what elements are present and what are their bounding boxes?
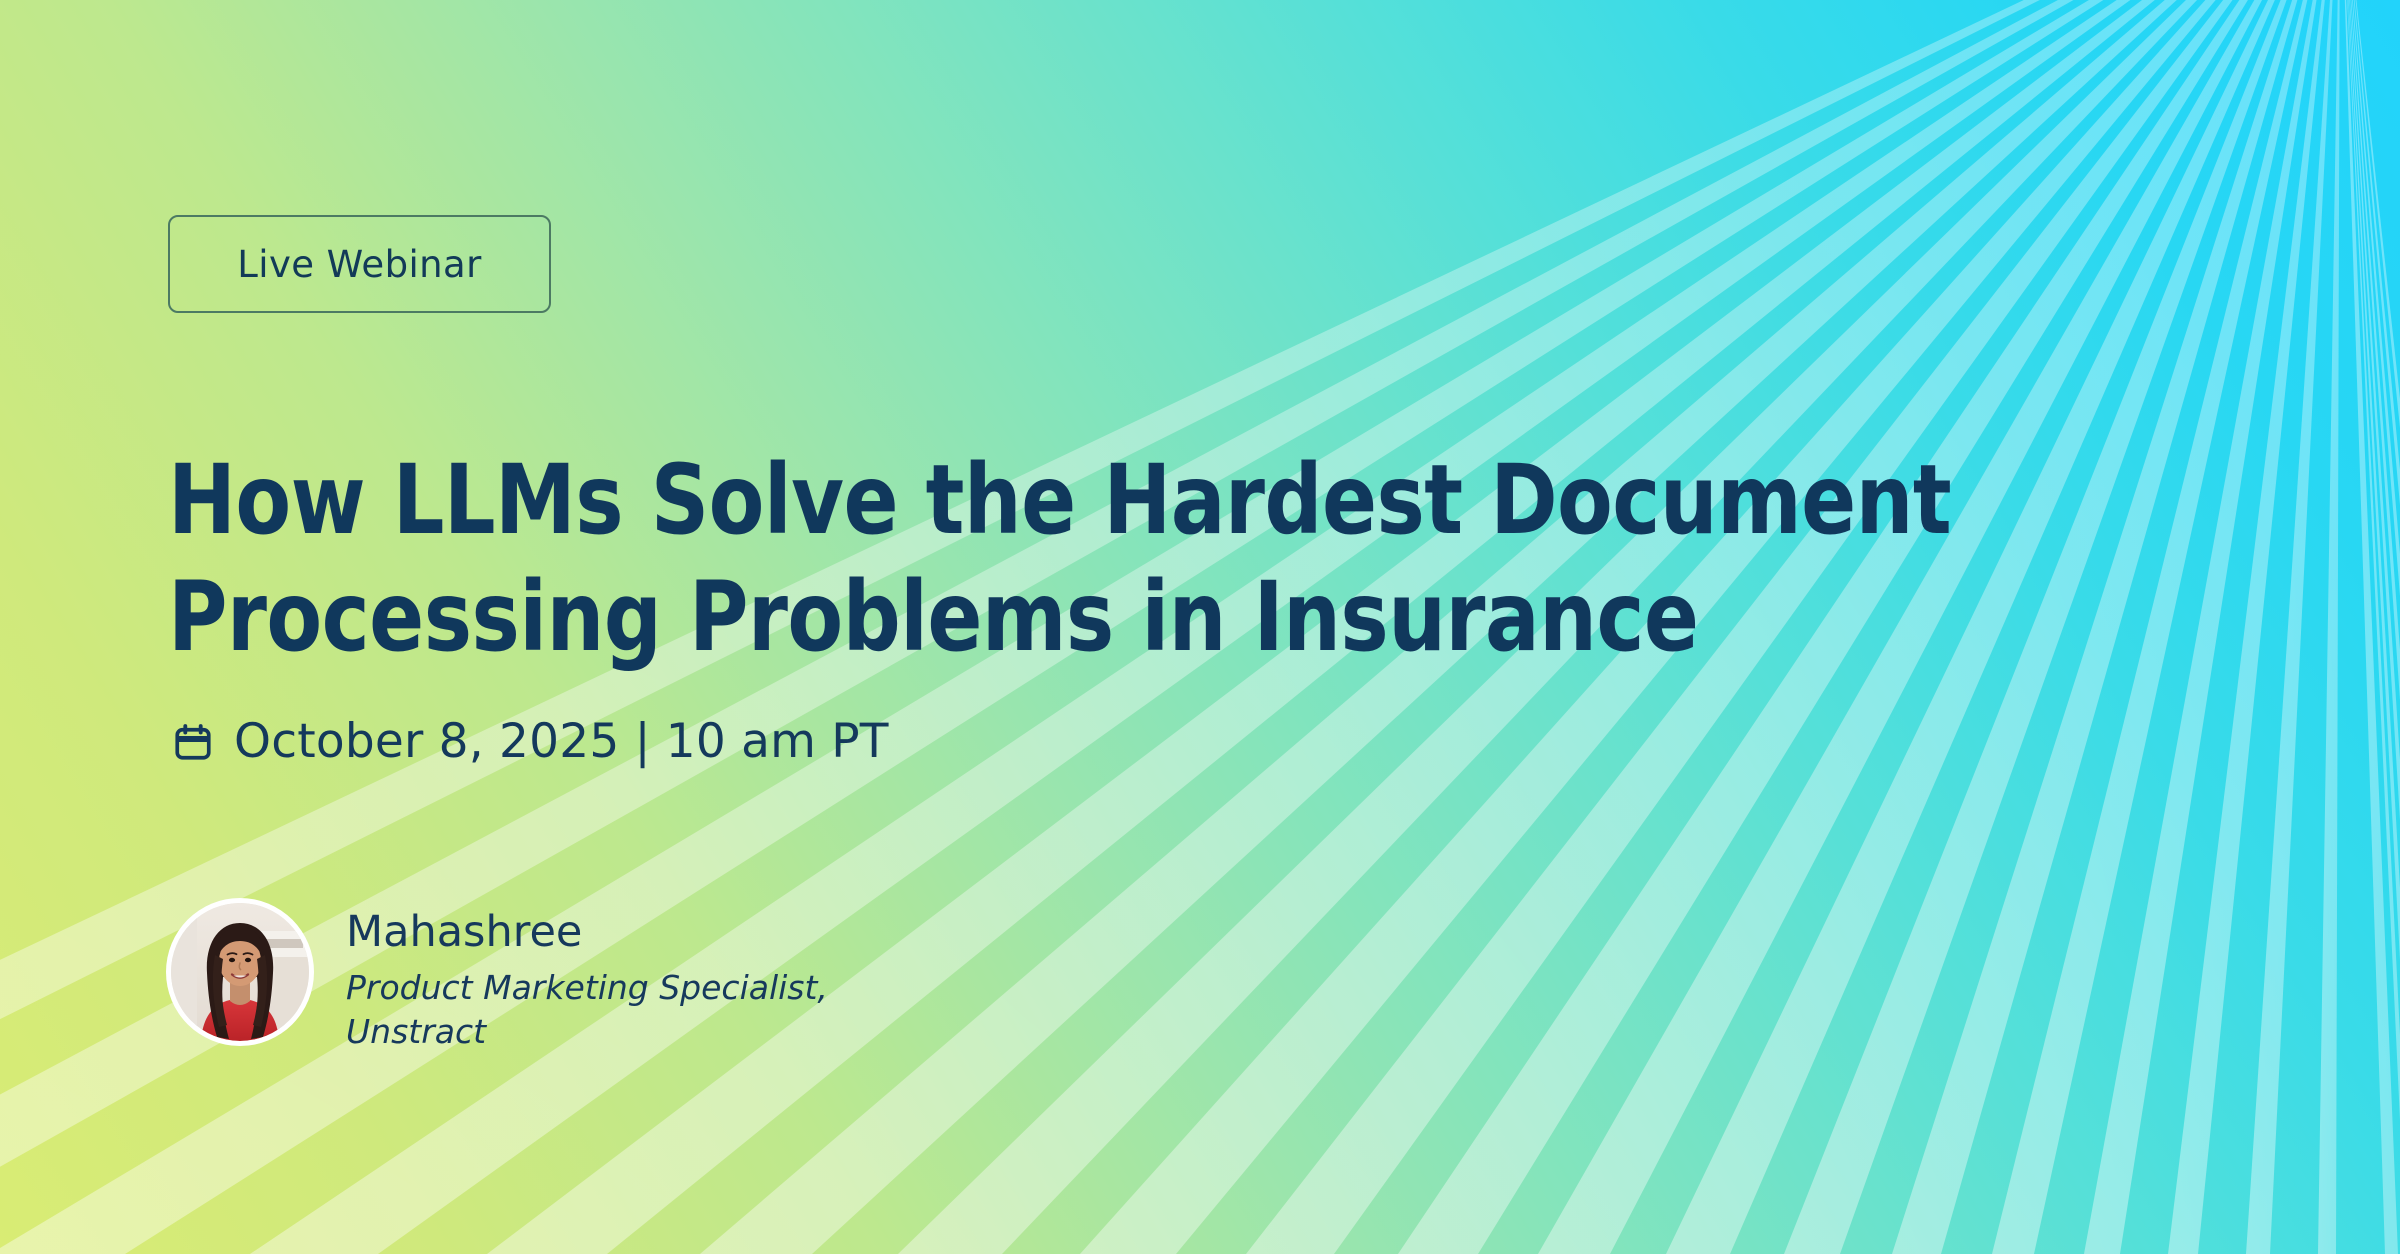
schedule-row: October 8, 2025 | 10 am PT [172,714,889,769]
speaker-title: Product Marketing Specialist, Unstract [346,966,828,1054]
speaker-block: Mahashree Product Marketing Specialist, … [166,898,828,1054]
calendar-icon [172,721,214,763]
speaker-title-line-2: Unstract [346,1010,828,1054]
avatar-ring [166,898,314,1046]
schedule-text: October 8, 2025 | 10 am PT [234,714,889,769]
live-webinar-badge-label: Live Webinar [237,243,481,286]
speaker-details: Mahashree Product Marketing Specialist, … [346,898,828,1054]
live-webinar-badge: Live Webinar [168,215,551,313]
webinar-banner: Live Webinar How LLMs Solve the Hardest … [0,0,2400,1254]
avatar [171,903,309,1041]
avatar-photo [171,903,309,1041]
webinar-headline: How LLMs Solve the Hardest Document Proc… [168,442,2095,676]
headline-line-1: How LLMs Solve the Hardest Document [168,442,2095,559]
headline-line-2: Processing Problems in Insurance [168,559,2095,676]
speaker-name: Mahashree [346,908,828,957]
speaker-title-line-1: Product Marketing Specialist, [346,966,828,1010]
